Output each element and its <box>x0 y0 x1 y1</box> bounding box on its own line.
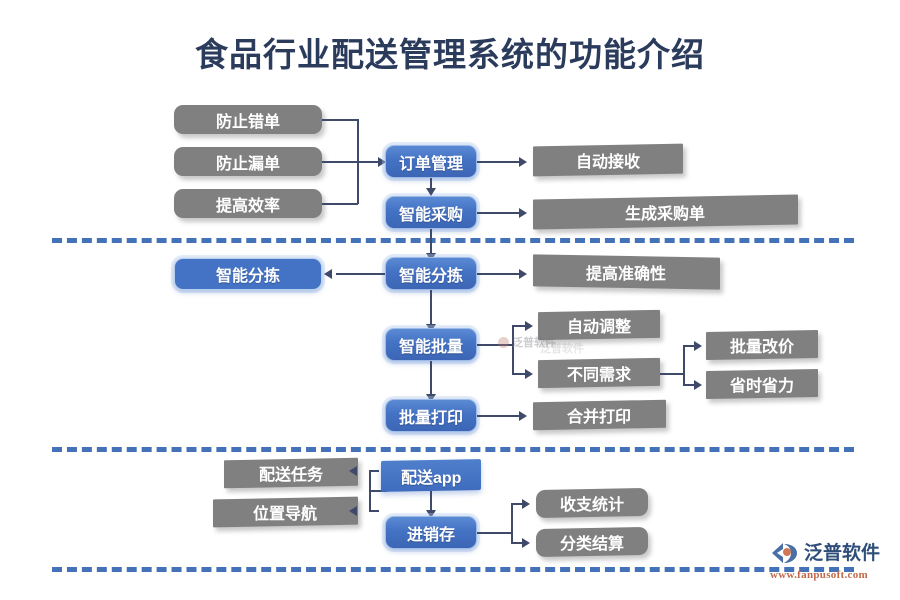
connector-line <box>477 532 512 534</box>
node-label: 配送任务 <box>259 461 323 485</box>
node-smart-sorting[interactable]: 智能分拣 <box>385 257 477 290</box>
node-label: 智能分拣 <box>399 262 463 286</box>
connector-line <box>430 491 432 511</box>
arrow-icon <box>519 269 527 279</box>
node-delivery-app[interactable]: 配送app <box>381 459 481 492</box>
diagram-canvas: 食品行业配送管理系统的功能介绍 防止错单 防止漏单 提高效率 订单管理 智能采购… <box>0 0 900 600</box>
node-smart-purchase[interactable]: 智能采购 <box>385 196 477 229</box>
section-divider-2 <box>52 447 854 452</box>
node-prevent-missing-order[interactable]: 防止漏单 <box>174 147 322 176</box>
connector-line <box>336 273 385 275</box>
node-label: 进销存 <box>407 521 455 545</box>
arrow-icon <box>694 341 702 351</box>
node-label: 自动调整 <box>567 313 631 337</box>
connector-line <box>322 119 358 121</box>
node-label: 配送app <box>401 464 461 488</box>
node-label: 省时省力 <box>730 372 794 396</box>
node-label: 提高效率 <box>216 192 280 216</box>
node-merge-print[interactable]: 合并打印 <box>533 400 666 431</box>
connector-line <box>660 373 684 375</box>
node-batch-price-change[interactable]: 批量改价 <box>706 330 818 360</box>
node-label: 分类结算 <box>560 530 624 554</box>
node-label: 智能分拣 <box>216 262 280 286</box>
node-label: 订单管理 <box>399 150 463 174</box>
fanpu-logo-icon <box>770 540 800 566</box>
node-prevent-wrong-order[interactable]: 防止错单 <box>174 105 322 134</box>
node-different-demand[interactable]: 不同需求 <box>538 358 660 388</box>
logo-brand-text: 泛普软件 <box>804 544 880 563</box>
section-divider-1 <box>52 238 854 243</box>
node-location-navigation[interactable]: 位置导航 <box>213 497 358 528</box>
node-label: 生成采购单 <box>625 200 705 224</box>
node-income-expense-statistics[interactable]: 收支统计 <box>536 488 648 518</box>
connector-line <box>477 273 520 275</box>
arrow-icon <box>694 380 702 390</box>
node-label: 智能采购 <box>399 201 463 225</box>
connector-line <box>511 503 513 543</box>
arrow-icon <box>525 321 533 331</box>
connector-line <box>477 161 520 163</box>
node-label: 防止错单 <box>216 108 280 132</box>
connector-line <box>369 510 379 512</box>
node-order-management[interactable]: 订单管理 <box>385 145 477 178</box>
node-label: 位置导航 <box>253 500 317 524</box>
connector-line <box>322 203 358 205</box>
node-delivery-task[interactable]: 配送任务 <box>224 458 358 489</box>
connector-line <box>430 290 432 325</box>
connector-line <box>322 161 379 163</box>
watermark-text: 泛普软件 <box>540 340 584 356</box>
node-batch-print[interactable]: 批量打印 <box>385 399 477 432</box>
section-divider-3 <box>52 567 854 572</box>
page-title: 食品行业配送管理系统的功能介绍 <box>0 28 900 76</box>
connector-line <box>512 325 514 375</box>
node-label: 批量改价 <box>730 333 794 357</box>
node-label: 防止漏单 <box>216 150 280 174</box>
connector-line <box>369 470 379 472</box>
arrow-icon <box>522 538 530 548</box>
node-label: 自动接收 <box>576 148 640 172</box>
arrow-icon <box>525 369 533 379</box>
node-smart-sorting-left[interactable]: 智能分拣 <box>174 258 322 290</box>
node-save-time-effort[interactable]: 省时省力 <box>706 369 818 399</box>
arrow-icon <box>349 466 357 476</box>
connector-line <box>430 361 432 395</box>
node-improve-accuracy[interactable]: 提高准确性 <box>533 254 720 289</box>
arrow-icon <box>519 157 527 167</box>
arrow-icon <box>522 499 530 509</box>
node-label: 提高准确性 <box>586 260 666 284</box>
node-smart-batch[interactable]: 智能批量 <box>385 328 477 361</box>
brand-logo: 泛普软件 www.fanpusoft.com <box>770 540 892 588</box>
watermark-2: 泛普软件 <box>540 340 584 356</box>
watermark-dot-icon <box>498 337 509 348</box>
connector-line <box>683 345 685 385</box>
connector-line <box>512 325 526 327</box>
node-inventory-management[interactable]: 进销存 <box>385 516 477 549</box>
node-label: 批量打印 <box>399 404 463 428</box>
arrow-icon <box>349 506 357 516</box>
logo-url-text: www.fanpusoft.com <box>770 569 892 581</box>
arrow-icon <box>324 269 332 279</box>
connector-line <box>369 470 371 512</box>
node-generate-purchase-order[interactable]: 生成采购单 <box>533 194 798 229</box>
node-auto-receive[interactable]: 自动接收 <box>533 144 683 177</box>
node-label: 合并打印 <box>567 403 631 427</box>
connector-line <box>477 212 520 214</box>
arrow-icon <box>426 188 436 196</box>
arrow-icon <box>519 411 527 421</box>
node-label: 智能批量 <box>399 333 463 357</box>
node-auto-adjust[interactable]: 自动调整 <box>538 310 660 340</box>
connector-line <box>477 415 520 417</box>
node-improve-efficiency[interactable]: 提高效率 <box>174 189 322 218</box>
node-category-settlement[interactable]: 分类结算 <box>536 527 648 557</box>
connector-line <box>512 373 526 375</box>
arrow-icon <box>519 208 527 218</box>
connector-line <box>430 229 432 254</box>
node-label: 不同需求 <box>567 361 631 385</box>
node-label: 收支统计 <box>560 491 624 515</box>
